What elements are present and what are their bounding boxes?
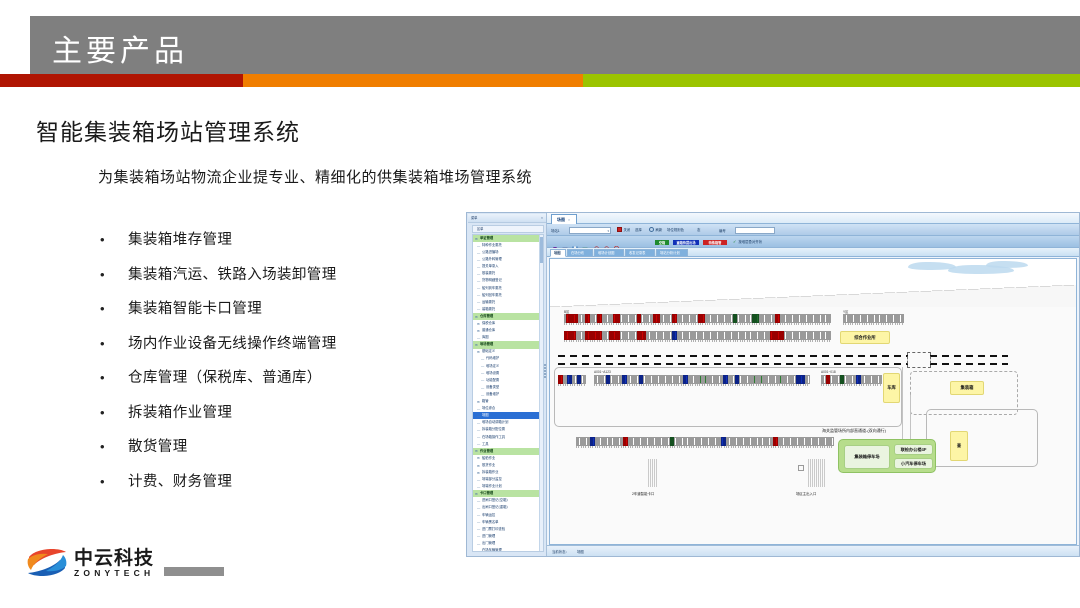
refresh-button[interactable]: 刷新	[649, 227, 662, 232]
tree-item[interactable]: —功能配置	[473, 377, 543, 384]
area-label: 车库	[887, 385, 896, 391]
state-button[interactable]: 态	[697, 227, 700, 232]
legend-empty-container: 空箱	[655, 240, 669, 245]
tree-item[interactable]: ⊞基础定义	[473, 349, 543, 356]
tree-item[interactable]: ⊞散货作业	[473, 462, 543, 469]
yard-boundary-box	[554, 367, 902, 427]
tree-item-label: 仓库管理	[480, 315, 493, 318]
feature-bullet-list: • 集装箱堆存管理 • 集装箱汽运、铁路入场装卸管理 • 集装箱智能卡口管理 •…	[100, 228, 450, 504]
list-item-label: 场内作业设备无线操作终端管理	[128, 332, 337, 353]
subtab-label: 场站分析计划	[660, 250, 680, 255]
tree-item-label: 车辆运控	[482, 514, 495, 517]
slot-color-rule-label: 场位规则色	[667, 227, 684, 232]
tree-item-label: 场端作业计划	[482, 485, 502, 488]
menu-header-label: 区单	[477, 228, 483, 231]
legend-label: 特殊箱管	[709, 240, 722, 245]
tree-item-label: 场图	[482, 414, 489, 417]
company-logo: 中云科技 ZONYTECH	[26, 546, 224, 580]
rect-icon[interactable]	[562, 239, 568, 245]
tree-item-label: 提关单录入	[482, 265, 498, 268]
subtab-label: 堆场计划图	[598, 250, 614, 255]
tree-item[interactable]: ⊞箱管	[473, 398, 543, 405]
list-item: • 集装箱堆存管理	[100, 228, 450, 263]
navigation-tree[interactable]: ⊞单证管理—特种作业委托—公路进播场—公路外转管理—提关单录入—散装委托—货物明…	[472, 234, 544, 552]
road-dash-line	[930, 355, 1008, 357]
no-field-label: 编号	[719, 228, 726, 233]
list-item-label: 拆装箱作业管理	[128, 401, 232, 422]
status-label: 当前状态：	[552, 549, 569, 554]
tree-item[interactable]: —代码维护	[473, 356, 543, 363]
tree-item-label: 货物明细登记	[482, 279, 502, 282]
close-icon	[617, 227, 622, 232]
section-subheading: 为集装箱场站物流企业提专业、精细化的供集装箱堆场管理系统	[98, 166, 532, 187]
tab-station-plan[interactable]: 场站分析计划	[656, 249, 688, 257]
parking-complex: 集装箱停车场 联检办公楼4F 小汽车停车场	[838, 439, 936, 473]
form-filter-bar: 场站1 ▾ 关闭 选择 刷新 场位规则色	[547, 224, 1079, 236]
chevron-down-icon[interactable]: ▾	[607, 229, 609, 233]
tree-item-label: 代码维护	[486, 357, 499, 360]
station-select[interactable]: ▾	[569, 227, 611, 234]
close-icon[interactable]: ×	[568, 218, 570, 222]
tree-item-label: 出闸口登记(重箱)	[482, 506, 508, 509]
tree-item[interactable]: ⊞作业管理	[473, 448, 543, 455]
list-item: • 仓库管理（保税库、普通库）	[100, 366, 450, 401]
tree-item[interactable]: ⊞堆场管理	[473, 341, 543, 348]
tree-item-label: 特种作业委托	[482, 244, 502, 247]
subtab-label: 场图	[554, 250, 561, 255]
tree-item[interactable]: —公路进播场	[473, 249, 543, 256]
bullet-marker-icon: •	[100, 337, 128, 350]
joint-inspection-building: 联检办公楼4F	[894, 444, 933, 455]
gate-lane-hatch	[808, 459, 826, 487]
tab-receipt-record[interactable]: 收发记录表	[625, 249, 655, 257]
tree-item[interactable]: —场位综合	[473, 405, 543, 412]
container-slot[interactable]	[831, 437, 833, 446]
cloud-shape	[986, 261, 1028, 268]
tree-item[interactable]: —装箱委托	[473, 306, 543, 313]
logo-wordmark: 中云科技 ZONYTECH	[74, 549, 154, 578]
perimeter-edge	[550, 285, 1076, 307]
tree-item-label: 车辆黑名单	[482, 521, 498, 524]
label-garage: 车库	[883, 373, 900, 403]
tree-item-label: 堆场管理	[480, 343, 493, 346]
product-screenshot: 菜单 × 区单 ⊞单证管理—特种作业委托—公路进播场—公路外转管理—提关单录入—…	[466, 212, 1080, 557]
tree-item[interactable]: —车辆黑名单	[473, 519, 543, 526]
tree-item[interactable]: ⊞普通仓库	[473, 327, 543, 334]
tree-item[interactable]: —进门管理	[473, 533, 543, 540]
legend-label: 空箱	[659, 240, 665, 245]
car-parking-lot: 小汽车停车场	[894, 458, 933, 469]
select-button-label: 选择	[635, 227, 642, 232]
slot-ruler	[564, 323, 831, 327]
tree-item-label: 保税仓库	[482, 322, 495, 325]
tree-item[interactable]: —堆场自动调箱计划	[473, 419, 543, 426]
tree-item[interactable]: —场图	[473, 412, 543, 419]
tree-item[interactable]: —特种作业委托	[473, 242, 543, 249]
subtab-label: 收发记录表	[629, 250, 645, 255]
tree-item-label: 装箱委托	[482, 308, 495, 311]
facility-boundary-box	[926, 409, 1038, 467]
slot-ruler	[843, 323, 904, 327]
logo-name-en: ZONYTECH	[74, 569, 154, 578]
page-title: 主要产品	[52, 26, 188, 70]
accent-rule-green	[583, 74, 1080, 87]
tree-item-label: 船舶作业	[482, 457, 495, 460]
tree-item[interactable]: ⊞仓库管理	[473, 313, 543, 320]
gate-label-main-entrance: 场区主出入口	[796, 491, 816, 496]
road-dash-line	[558, 363, 908, 365]
tree-item-label: 船列回车委托	[482, 294, 502, 297]
tree-item-label: 堆场自动调箱计划	[482, 421, 508, 424]
logo-name-cn: 中云科技	[74, 549, 154, 568]
menu-header: 区单	[472, 225, 544, 233]
document-tabstrip: 场图 ×	[547, 213, 1079, 224]
container-slot[interactable]	[902, 314, 904, 323]
bullet-marker-icon: •	[100, 475, 128, 488]
area-label: 集装箱	[961, 385, 974, 391]
tree-item-label: 在场箱操作工具	[482, 436, 505, 439]
select-button[interactable]: 选择	[635, 227, 642, 232]
close-icon[interactable]: ×	[541, 216, 543, 220]
road-dash-line	[558, 355, 908, 357]
dock-caption-label: 菜单	[471, 217, 477, 220]
tree-item[interactable]: ⊞保税仓库	[473, 320, 543, 327]
section-heading: 智能集装箱场站管理系统	[36, 113, 300, 147]
bullet-marker-icon: •	[100, 440, 128, 453]
tree-item[interactable]: ⊞拆装箱作业	[473, 469, 543, 476]
area-label: 综合作业所	[854, 335, 875, 341]
status-bar: 当前状态： 场图	[547, 545, 1079, 556]
tree-item-label: 箱管	[482, 400, 489, 403]
status-value: 场图	[577, 549, 584, 554]
slot-ruler	[564, 340, 831, 344]
no-input[interactable]	[735, 227, 775, 234]
map-toolbar: 空箱 重箱待提出场 特殊箱管 ✓ 按堆层叠对齐状	[547, 236, 1079, 248]
tab-yard-map-view[interactable]: 场图	[550, 249, 566, 257]
tree-item-label: 散货作业	[482, 464, 495, 467]
legend-special-container: 特殊箱管	[703, 240, 727, 245]
tree-item-label: 工具	[482, 443, 489, 446]
tab-onsite-dist[interactable]: 在场分布	[567, 249, 593, 257]
slide-root: 主要产品 智能集装箱场站管理系统 为集装箱场站物流企业提专业、精细化的供集装箱堆…	[0, 0, 1080, 608]
label-container-area: 集装箱	[950, 381, 984, 395]
tree-item-label: 卡口管理	[480, 492, 493, 495]
list-item: • 集装箱汽运、铁路入场装卸管理	[100, 263, 450, 298]
tree-item-label: 出门管理	[482, 542, 495, 545]
tree-item-label: 单证管理	[480, 237, 493, 240]
tree-item-label: 场端部分监控	[482, 478, 502, 481]
station-field-label: 场站1	[551, 228, 560, 233]
container-parking-lot: 集装箱停车场	[844, 445, 890, 469]
logo-accent-bar	[164, 567, 224, 576]
save-icon[interactable]	[572, 239, 578, 245]
tree-item[interactable]: —公路外转管理	[473, 256, 543, 263]
slot-ruler	[576, 446, 834, 450]
container-slot[interactable]	[829, 331, 831, 340]
zoom-in-icon[interactable]	[594, 239, 600, 245]
container-row-b[interactable]	[564, 314, 831, 323]
list-item: • 散货管理	[100, 435, 450, 470]
rotate-icon[interactable]	[614, 239, 620, 245]
list-item: • 拆装箱作业管理	[100, 401, 450, 436]
list-item-label: 集装箱汽运、铁路入场装卸管理	[128, 263, 337, 284]
check-icon: ✓	[733, 240, 736, 244]
tree-item-label: 作业管理	[480, 450, 493, 453]
list-item-label: 仓库管理（保税库、普通库）	[128, 366, 322, 387]
corridor-label: 海关监管场所内部直通道-(双向通行)	[822, 428, 886, 434]
tree-item-label: 公路外转管理	[482, 258, 502, 261]
align-by-tier-label: 按堆层叠对齐状	[738, 239, 762, 244]
tree-item[interactable]: —进闸口登记(空箱)	[473, 497, 543, 504]
tree-item-label: 散装委托	[482, 272, 495, 275]
tree-item[interactable]: ⊞船舶作业	[473, 455, 543, 462]
tree-item[interactable]: —设备维护	[473, 391, 543, 398]
tree-item[interactable]: —在场车辆管理	[473, 547, 543, 552]
tree-item-label: 库图	[482, 336, 489, 339]
tree-item-label: 拆装箱作业	[482, 471, 498, 474]
tree-item-label: 运输委托	[482, 301, 495, 304]
list-item-label: 散货管理	[128, 435, 188, 456]
tree-item[interactable]: —堆场定义	[473, 363, 543, 370]
accent-rule-red	[0, 74, 243, 87]
gate-label-smart-lane: 2车道智能卡口	[632, 491, 654, 496]
tree-item-label: 功能配置	[486, 379, 499, 382]
tree-item[interactable]: —设备类型	[473, 384, 543, 391]
main-work-panel: 场图 × 场站1 ▾ 关闭 选择 刷新	[547, 213, 1079, 556]
tree-item[interactable]: —散装委托	[473, 270, 543, 277]
tree-item-label: 场位综合	[482, 407, 495, 410]
container-row-b2[interactable]	[564, 331, 831, 340]
tree-item[interactable]: —出闸口登记(重箱)	[473, 505, 543, 512]
bullet-marker-icon: •	[100, 371, 128, 384]
tree-item-label: 公路进播场	[482, 251, 498, 254]
tab-yard-map[interactable]: 场图 ×	[551, 214, 577, 224]
tree-item[interactable]: —车辆运控	[473, 512, 543, 519]
building-label: 集装箱停车场	[854, 454, 879, 460]
tree-item[interactable]: ⊞卡口管理	[473, 490, 543, 497]
tree-item[interactable]: —场端部分监控	[473, 476, 543, 483]
tree-item[interactable]: —库图	[473, 334, 543, 341]
state-button-label: 态	[697, 227, 700, 232]
align-by-tier-checkbox[interactable]: ✓ 按堆层叠对齐状	[733, 239, 762, 244]
bullet-marker-icon: •	[100, 302, 128, 315]
tree-item-label: 基础定义	[482, 350, 495, 353]
menu-dock-panel: 菜单 × 区单 ⊞单证管理—特种作业委托—公路进播场—公路外转管理—提关单录入—…	[467, 213, 547, 557]
building-label: 联检办公楼4F	[901, 447, 927, 453]
tab-label: 场图	[557, 217, 565, 223]
list-item: • 集装箱智能卡口管理	[100, 297, 450, 332]
area-label: 查	[957, 443, 961, 449]
tree-item-label: 设备维护	[486, 393, 499, 396]
tree-item-label: 设备类型	[486, 386, 499, 389]
tree-item[interactable]: —提关单录入	[473, 263, 543, 270]
refresh-button-label: 刷新	[656, 227, 663, 232]
subtab-label: 在场分布	[571, 250, 584, 255]
tree-item-label: 进门管理	[482, 535, 495, 538]
tree-item[interactable]: —出门管理	[473, 540, 543, 547]
container-row-lower[interactable]	[576, 437, 834, 446]
tree-item[interactable]: —货物明细登记	[473, 278, 543, 285]
tree-item[interactable]: —堆场设置	[473, 370, 543, 377]
container-slot[interactable]	[829, 314, 831, 323]
fill-icon[interactable]	[582, 239, 588, 245]
tree-item-label: 进门票打印查验	[482, 528, 505, 531]
accent-rule-orange	[243, 74, 583, 87]
gate-lane-hatch	[648, 459, 657, 487]
dock-caption-bar: 菜单 ×	[468, 214, 546, 223]
tree-item[interactable]: —工具	[473, 441, 543, 448]
tree-item[interactable]: —进门票打印查验	[473, 526, 543, 533]
list-item-label: 计费、财务管理	[128, 470, 232, 491]
bullet-marker-icon: •	[100, 233, 128, 246]
pin-icon[interactable]	[552, 239, 558, 245]
tree-item[interactable]: —船列回车委托	[473, 292, 543, 299]
tree-item-label: 船列到车委托	[482, 287, 502, 290]
list-item: • 场内作业设备无线操作终端管理	[100, 332, 450, 367]
zonytech-swoosh-icon	[26, 546, 68, 580]
tree-item[interactable]: —船列到车委托	[473, 285, 543, 292]
tree-item[interactable]: —场端作业计划	[473, 483, 543, 490]
label-inspection-yard: 查	[950, 431, 968, 461]
tree-item[interactable]: —拆装箱分配位置	[473, 427, 543, 434]
container-row-y[interactable]	[843, 314, 904, 323]
tree-item[interactable]: —在场箱操作工具	[473, 434, 543, 441]
tree-scrollbar[interactable]	[539, 235, 543, 551]
bullet-marker-icon: •	[100, 406, 128, 419]
tree-item-label: 普通仓库	[482, 329, 495, 332]
legend-label: 重箱待提出场	[676, 240, 695, 245]
list-item: • 计费、财务管理	[100, 470, 450, 505]
list-item-label: 集装箱堆存管理	[128, 228, 232, 249]
road-dash-line	[930, 363, 1008, 365]
legend-laden-container: 重箱待提出场	[673, 240, 699, 245]
close-button[interactable]: 关闭	[617, 227, 630, 232]
gate-marker-box	[907, 352, 931, 368]
list-item-label: 集装箱智能卡口管理	[128, 297, 262, 318]
bullet-marker-icon: •	[100, 268, 128, 281]
tree-item-label: 在场车辆管理	[482, 549, 502, 552]
label-comprehensive-workshop: 综合作业所	[840, 331, 890, 344]
refresh-icon	[649, 227, 654, 232]
tree-item-label: 进闸口登记(空箱)	[482, 499, 508, 502]
zoom-out-icon[interactable]	[604, 239, 610, 245]
view-subtabs: 场图 在场分布 堆场计划图 收发记录表 场站分析计划	[547, 248, 1079, 257]
tree-item[interactable]: —运输委托	[473, 299, 543, 306]
building-label: 小汽车停车场	[901, 461, 926, 467]
tree-item-label: 堆场设置	[486, 372, 499, 375]
slot-color-rule-button[interactable]: 场位规则色	[667, 227, 684, 232]
tree-item[interactable]: ⊞单证管理	[473, 235, 543, 242]
gate-booth	[798, 465, 804, 471]
close-button-label: 关闭	[624, 227, 631, 232]
tree-item-label: 拆装箱分配位置	[482, 428, 505, 431]
tree-item-label: 堆场定义	[486, 365, 499, 368]
yard-map-canvas[interactable]: B区 Y区 A001~A123 A00	[549, 258, 1077, 545]
tab-yard-plan[interactable]: 堆场计划图	[594, 249, 624, 257]
